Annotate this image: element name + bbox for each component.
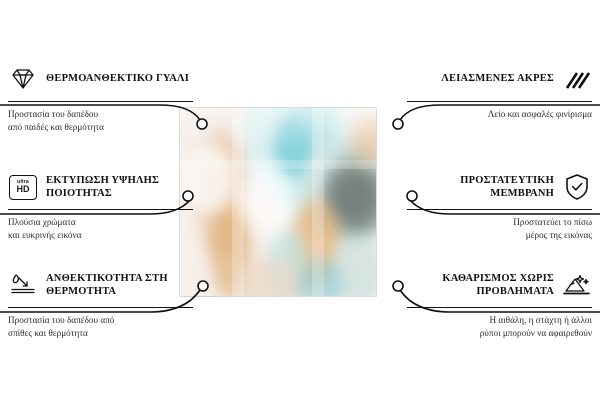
glass-panel: [180, 108, 376, 296]
feature-high-quality-print[interactable]: ultra HD ΕΚΤΥΠΩΣΗ ΥΨΗΛΗΣ ΠΟΙΟΤΗΤΑΣ Πλούσ…: [8, 170, 193, 242]
feature-divider: [407, 209, 592, 210]
feature-protective-membrane[interactable]: ΠΡΟΣΤΑΤΕΥΤΙΚΗ ΜΕΜΒΡΑΝΗ Προστατεύει το πί…: [407, 170, 592, 242]
ultra-hd-icon: ultra HD: [8, 174, 38, 200]
feature-easy-cleaning[interactable]: ΚΑΘΑΡΙΣΜΟΣ ΧΩΡΙΣ ΠΡΟΒΛΗΜΑΤΑ Η αιθάλη, η …: [407, 268, 592, 340]
feature-divider: [8, 101, 193, 102]
marble-artwork: [180, 108, 376, 296]
feature-header: ΘΕΡΜΟΑΝΘΕΚΤΙΚΟ ΓΥΑΛΙ: [8, 62, 193, 96]
ultra-hd-large-text: HD: [17, 185, 30, 194]
feature-divider: [407, 307, 592, 308]
feature-title: ΑΝΘΕΚΤΙΚΟΤΗΤΑ ΣΤΗ ΘΕΡΜΟΤΗΤΑ: [46, 272, 193, 299]
feature-description: Λείο και ασφαλές φινίρισμα: [407, 108, 592, 121]
feature-title: ΛΕΙΑΣΜΕΝΕΣ ΑΚΡΕΣ: [441, 72, 554, 85]
polished-edges-icon: [562, 66, 592, 92]
feature-header: ΚΑΘΑΡΙΣΜΟΣ ΧΩΡΙΣ ΠΡΟΒΛΗΜΑΤΑ: [407, 268, 592, 302]
feature-title: ΘΕΡΜΟΑΝΘΕΚΤΙΚΟ ΓΥΑΛΙ: [46, 72, 189, 85]
feature-header: ΑΝΘΕΚΤΙΚΟΤΗΤΑ ΣΤΗ ΘΕΡΜΟΤΗΤΑ: [8, 268, 193, 302]
feature-description: Πλούσια χρώματα και ευκρινής εικόνα: [8, 216, 193, 242]
feature-header: ΛΕΙΑΣΜΕΝΕΣ ΑΚΡΕΣ: [407, 62, 592, 96]
feature-divider: [8, 307, 193, 308]
easy-cleaning-sparkle-icon: [562, 272, 592, 298]
product-image[interactable]: [180, 108, 420, 298]
infographic-canvas: ΘΕΡΜΟΑΝΘΕΚΤΙΚΟ ΓΥΑΛΙ Προστασία του δαπέδ…: [0, 0, 600, 400]
feature-polished-edges[interactable]: ΛΕΙΑΣΜΕΝΕΣ ΑΚΡΕΣ Λείο και ασφαλές φινίρι…: [407, 62, 592, 121]
feature-heat-resistant-glass[interactable]: ΘΕΡΜΟΑΝΘΕΚΤΙΚΟ ΓΥΑΛΙ Προστασία του δαπέδ…: [8, 62, 193, 134]
feature-title: ΕΚΤΥΠΩΣΗ ΥΨΗΛΗΣ ΠΟΙΟΤΗΤΑΣ: [46, 174, 193, 201]
diamond-icon: [8, 66, 38, 92]
flame-heat-resistance-icon: [8, 272, 38, 298]
feature-title: ΚΑΘΑΡΙΣΜΟΣ ΧΩΡΙΣ ΠΡΟΒΛΗΜΑΤΑ: [407, 272, 554, 299]
feature-divider: [407, 101, 592, 102]
feature-header: ΠΡΟΣΤΑΤΕΥΤΙΚΗ ΜΕΜΒΡΑΝΗ: [407, 170, 592, 204]
feature-description: Προστατεύει το πίσω μέρος της εικόνας: [407, 216, 592, 242]
feature-description: Προστασία του δαπέδου από παιδές και θερ…: [8, 108, 193, 134]
feature-description: Η αιθάλη, η στάχτη ή άλλοι ρύποι μπορούν…: [407, 314, 592, 340]
feature-heat-durability[interactable]: ΑΝΘΕΚΤΙΚΟΤΗΤΑ ΣΤΗ ΘΕΡΜΟΤΗΤΑ Προστασία το…: [8, 268, 193, 340]
shield-check-icon: [562, 174, 592, 200]
feature-header: ultra HD ΕΚΤΥΠΩΣΗ ΥΨΗΛΗΣ ΠΟΙΟΤΗΤΑΣ: [8, 170, 193, 204]
feature-title: ΠΡΟΣΤΑΤΕΥΤΙΚΗ ΜΕΜΒΡΑΝΗ: [407, 174, 554, 201]
feature-divider: [8, 209, 193, 210]
feature-description: Προστασία του δαπέδου από σπίθες και θερ…: [8, 314, 193, 340]
